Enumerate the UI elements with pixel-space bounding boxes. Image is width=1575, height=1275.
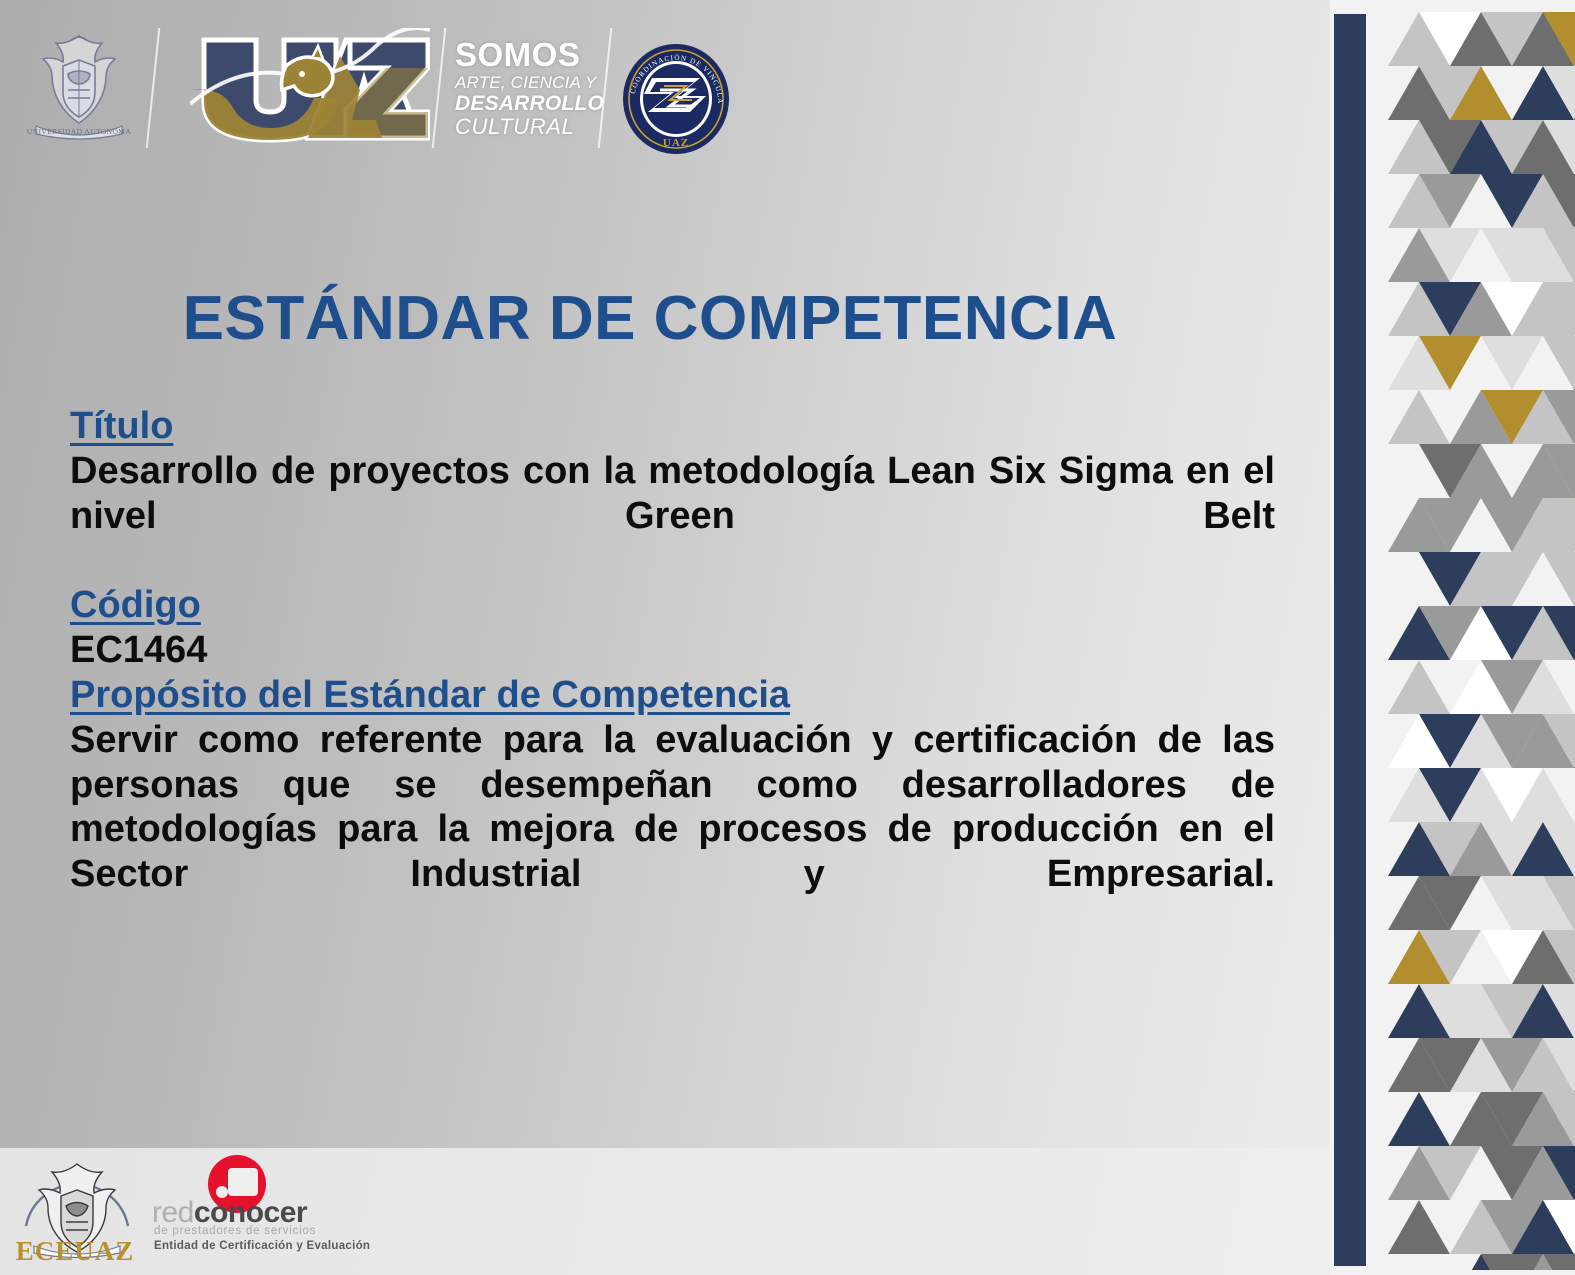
proposito-label: Propósito del Estándar de Competencia (70, 673, 1275, 718)
somos-slogan: SOMOS ARTE, CIENCIA Y DESARROLLO CULTURA… (455, 38, 600, 138)
uaz-wordmark-icon (190, 28, 430, 150)
triangle-mosaic-pattern (1388, 12, 1575, 1270)
header-logos: UNIVERSIDAD AUTONOMA (0, 0, 1330, 175)
redconocer-tagline-2: Entidad de Certificación y Evaluación (154, 1240, 370, 1252)
coordinacion-vinculacion-badge-icon: COORDINACIÓN DE VINCULACIÓN UAZ (620, 42, 732, 157)
page-title: ESTÁNDAR DE COMPETENCIA (0, 283, 1300, 354)
uaz-university-seal-icon: UNIVERSIDAD AUTONOMA (18, 22, 140, 152)
somos-line-2: ARTE, CIENCIA Y (455, 74, 600, 91)
titulo-label: Título (70, 404, 1275, 449)
proposito-value: Servir como referente para la evaluación… (70, 718, 1275, 942)
right-decoration-band (1330, 0, 1575, 1275)
svg-text:UAZ: UAZ (663, 137, 689, 149)
header-divider-2 (432, 28, 447, 148)
somos-line-1: SOMOS (455, 38, 600, 71)
codigo-label: Código (70, 583, 1275, 628)
titulo-value: Desarrollo de proyectos con la metodolog… (70, 449, 1275, 583)
somos-line-3: DESARROLLO (455, 93, 600, 114)
svg-text:UNIVERSIDAD AUTONOMA: UNIVERSIDAD AUTONOMA (27, 127, 132, 136)
body-content: Título Desarrollo de proyectos con la me… (70, 404, 1275, 942)
eceuaz-label: ECEUAZ (14, 1236, 136, 1267)
slide: UNIVERSIDAD AUTONOMA (0, 0, 1575, 1275)
somos-line-4: CULTURAL (455, 116, 600, 138)
redconocer-logo-square (228, 1168, 258, 1196)
navy-vertical-bar (1334, 14, 1366, 1266)
codigo-value: EC1464 (70, 628, 1275, 673)
redconocer-tagline-1: de prestadores de servicios (154, 1225, 316, 1237)
header-divider-1 (146, 28, 161, 148)
